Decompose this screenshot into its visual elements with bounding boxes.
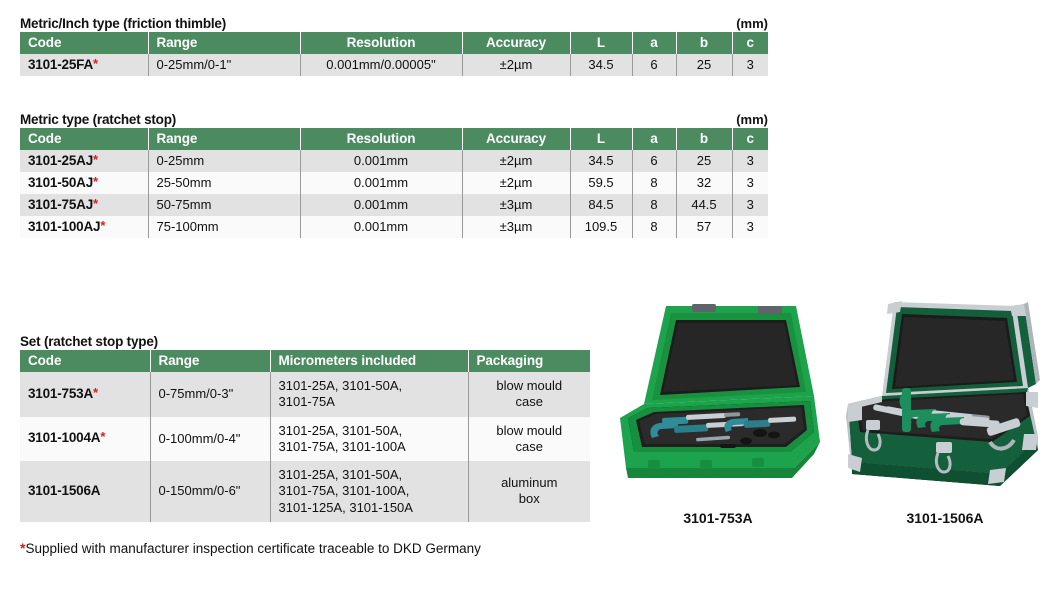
cell-c: 3 bbox=[732, 216, 768, 238]
column-header-a: a bbox=[632, 128, 676, 150]
included-line: 3101-125A, 3101-150A bbox=[279, 500, 460, 516]
code-value: 3101-25AJ bbox=[28, 153, 93, 168]
cell-c: 3 bbox=[732, 194, 768, 216]
column-header-code: Code bbox=[20, 350, 150, 372]
asterisk-marker: * bbox=[100, 218, 105, 233]
cell-range: 0-25mm/0-1" bbox=[148, 54, 300, 76]
packaging-line: blow mould bbox=[477, 378, 583, 394]
included-line: 3101-25A, 3101-50A, bbox=[279, 467, 460, 483]
included-line: 3101-75A, 3101-100A, bbox=[279, 483, 460, 499]
cell-b: 44.5 bbox=[676, 194, 732, 216]
footnote-text: Supplied with manufacturer inspection ce… bbox=[25, 541, 480, 556]
table-row: 3101-50AJ* 25-50mm 0.001mm ±2µm 59.5 8 3… bbox=[20, 172, 768, 194]
cell-a: 6 bbox=[632, 150, 676, 172]
cell-packaging: aluminum box bbox=[468, 461, 590, 522]
asterisk-marker: * bbox=[93, 174, 98, 189]
included-line: 3101-75A, 3101-100A bbox=[279, 439, 460, 455]
cell-range: 0-75mm/0-3" bbox=[150, 372, 270, 417]
column-header-range: Range bbox=[148, 32, 300, 54]
column-header-b: b bbox=[676, 128, 732, 150]
cell-packaging: blow mould case bbox=[468, 372, 590, 417]
table-header-row: Metric type (ratchet stop) (mm) bbox=[20, 108, 768, 128]
included-line: 3101-25A, 3101-50A, bbox=[279, 378, 460, 394]
cell-range: 75-100mm bbox=[148, 216, 300, 238]
column-header-accuracy: Accuracy bbox=[462, 32, 570, 54]
section-title: Set (ratchet stop type) bbox=[20, 334, 158, 349]
cell-code: 3101-1506A bbox=[20, 461, 150, 522]
table-header-row: Set (ratchet stop type) bbox=[20, 330, 590, 350]
packaging-line: aluminum bbox=[477, 475, 583, 491]
column-header-a: a bbox=[632, 32, 676, 54]
column-header-code: Code bbox=[20, 32, 148, 54]
code-value: 3101-1004A bbox=[28, 430, 100, 445]
column-header-micrometers: Micrometers included bbox=[270, 350, 468, 372]
cell-accuracy: ±2µm bbox=[462, 172, 570, 194]
cell-b: 32 bbox=[676, 172, 732, 194]
unit-note: (mm) bbox=[736, 16, 768, 31]
cell-l: 59.5 bbox=[570, 172, 632, 194]
table-block-metric-inch: Metric/Inch type (friction thimble) (mm)… bbox=[20, 12, 768, 76]
spec-table-metric-inch: Code Range Resolution Accuracy L a b c 3… bbox=[20, 32, 768, 76]
section-title: Metric/Inch type (friction thimble) bbox=[20, 16, 226, 31]
cell-resolution: 0.001mm bbox=[300, 194, 462, 216]
packaging-line: case bbox=[477, 394, 583, 410]
cell-c: 3 bbox=[732, 172, 768, 194]
cell-accuracy: ±2µm bbox=[462, 150, 570, 172]
cell-accuracy: ±2µm bbox=[462, 54, 570, 76]
column-header-l: L bbox=[570, 32, 632, 54]
cell-l: 34.5 bbox=[570, 150, 632, 172]
cell-range: 0-25mm bbox=[148, 150, 300, 172]
cell-code: 3101-50AJ* bbox=[20, 172, 148, 194]
column-header-range: Range bbox=[148, 128, 300, 150]
table-row: 3101-25AJ* 0-25mm 0.001mm ±2µm 34.5 6 25… bbox=[20, 150, 768, 172]
packaging-line: blow mould bbox=[477, 423, 583, 439]
asterisk-marker: * bbox=[100, 429, 105, 444]
table-row: 3101-25FA* 0-25mm/0-1" 0.001mm/0.00005" … bbox=[20, 54, 768, 76]
cell-code: 3101-25AJ* bbox=[20, 150, 148, 172]
cell-resolution: 0.001mm/0.00005" bbox=[300, 54, 462, 76]
table-head-row: Code Range Micrometers included Packagin… bbox=[20, 350, 590, 372]
code-value: 3101-753A bbox=[28, 386, 93, 401]
section-title: Metric type (ratchet stop) bbox=[20, 112, 176, 127]
asterisk-marker: * bbox=[93, 196, 98, 211]
included-line: 3101-25A, 3101-50A, bbox=[279, 423, 460, 439]
included-line: 3101-75A bbox=[279, 394, 460, 410]
footnote: *Supplied with manufacturer inspection c… bbox=[20, 541, 481, 556]
cell-code: 3101-100AJ* bbox=[20, 216, 148, 238]
cell-a: 8 bbox=[632, 172, 676, 194]
asterisk-marker: * bbox=[93, 385, 98, 400]
cell-resolution: 0.001mm bbox=[300, 150, 462, 172]
column-header-code: Code bbox=[20, 128, 148, 150]
figure-caption: 3101-753A bbox=[608, 510, 828, 526]
cell-accuracy: ±3µm bbox=[462, 216, 570, 238]
code-value: 3101-1506A bbox=[28, 483, 100, 498]
table-head-row: Code Range Resolution Accuracy L a b c bbox=[20, 32, 768, 54]
column-header-b: b bbox=[676, 32, 732, 54]
cell-a: 6 bbox=[632, 54, 676, 76]
cell-l: 84.5 bbox=[570, 194, 632, 216]
cell-code: 3101-753A* bbox=[20, 372, 150, 417]
table-block-set: Set (ratchet stop type) Code Range Micro… bbox=[20, 330, 590, 522]
column-header-c: c bbox=[732, 32, 768, 54]
code-value: 3101-25FA bbox=[28, 57, 93, 72]
column-header-resolution: Resolution bbox=[300, 128, 462, 150]
table-row: 3101-753A* 0-75mm/0-3" 3101-25A, 3101-50… bbox=[20, 372, 590, 417]
asterisk-marker: * bbox=[93, 56, 98, 71]
cell-micrometers-included: 3101-25A, 3101-50A, 3101-75A bbox=[270, 372, 468, 417]
table-header-row: Metric/Inch type (friction thimble) (mm) bbox=[20, 12, 768, 32]
cell-accuracy: ±3µm bbox=[462, 194, 570, 216]
code-value: 3101-75AJ bbox=[28, 197, 93, 212]
blow-mould-case-illustration bbox=[608, 292, 828, 502]
cell-b: 25 bbox=[676, 150, 732, 172]
table-head-row: Code Range Resolution Accuracy L a b c bbox=[20, 128, 768, 150]
cell-c: 3 bbox=[732, 54, 768, 76]
cell-code: 3101-25FA* bbox=[20, 54, 148, 76]
product-figure-aluminum-box: 3101-1506A bbox=[840, 292, 1050, 537]
packaging-line: box bbox=[477, 491, 583, 507]
cell-micrometers-included: 3101-25A, 3101-50A, 3101-75A, 3101-100A,… bbox=[270, 461, 468, 522]
cell-micrometers-included: 3101-25A, 3101-50A, 3101-75A, 3101-100A bbox=[270, 417, 468, 462]
table-row: 3101-100AJ* 75-100mm 0.001mm ±3µm 109.5 … bbox=[20, 216, 768, 238]
table-row: 3101-1004A* 0-100mm/0-4" 3101-25A, 3101-… bbox=[20, 417, 590, 462]
cell-code: 3101-1004A* bbox=[20, 417, 150, 462]
table-row: 3101-75AJ* 50-75mm 0.001mm ±3µm 84.5 8 4… bbox=[20, 194, 768, 216]
cell-range: 25-50mm bbox=[148, 172, 300, 194]
table-block-metric-ratchet: Metric type (ratchet stop) (mm) Code Ran… bbox=[20, 108, 768, 238]
column-header-c: c bbox=[732, 128, 768, 150]
cell-resolution: 0.001mm bbox=[300, 216, 462, 238]
cell-l: 34.5 bbox=[570, 54, 632, 76]
spec-table-metric-ratchet: Code Range Resolution Accuracy L a b c 3… bbox=[20, 128, 768, 238]
column-header-l: L bbox=[570, 128, 632, 150]
code-value: 3101-50AJ bbox=[28, 175, 93, 190]
packaging-line: case bbox=[477, 439, 583, 455]
cell-range: 0-100mm/0-4" bbox=[150, 417, 270, 462]
column-header-range: Range bbox=[150, 350, 270, 372]
product-figure-blow-mould-case: 3101-753A bbox=[608, 292, 828, 537]
spec-table-set: Code Range Micrometers included Packagin… bbox=[20, 350, 590, 522]
column-header-accuracy: Accuracy bbox=[462, 128, 570, 150]
figure-caption: 3101-1506A bbox=[840, 510, 1050, 526]
asterisk-marker: * bbox=[93, 152, 98, 167]
aluminum-box-illustration bbox=[840, 292, 1050, 502]
cell-range: 50-75mm bbox=[148, 194, 300, 216]
column-header-packaging: Packaging bbox=[468, 350, 590, 372]
cell-a: 8 bbox=[632, 194, 676, 216]
column-header-resolution: Resolution bbox=[300, 32, 462, 54]
unit-note: (mm) bbox=[736, 112, 768, 127]
cell-packaging: blow mould case bbox=[468, 417, 590, 462]
cell-l: 109.5 bbox=[570, 216, 632, 238]
code-value: 3101-100AJ bbox=[28, 219, 100, 234]
cell-code: 3101-75AJ* bbox=[20, 194, 148, 216]
cell-b: 57 bbox=[676, 216, 732, 238]
cell-c: 3 bbox=[732, 150, 768, 172]
cell-a: 8 bbox=[632, 216, 676, 238]
cell-resolution: 0.001mm bbox=[300, 172, 462, 194]
table-row: 3101-1506A 0-150mm/0-6" 3101-25A, 3101-5… bbox=[20, 461, 590, 522]
cell-range: 0-150mm/0-6" bbox=[150, 461, 270, 522]
cell-b: 25 bbox=[676, 54, 732, 76]
